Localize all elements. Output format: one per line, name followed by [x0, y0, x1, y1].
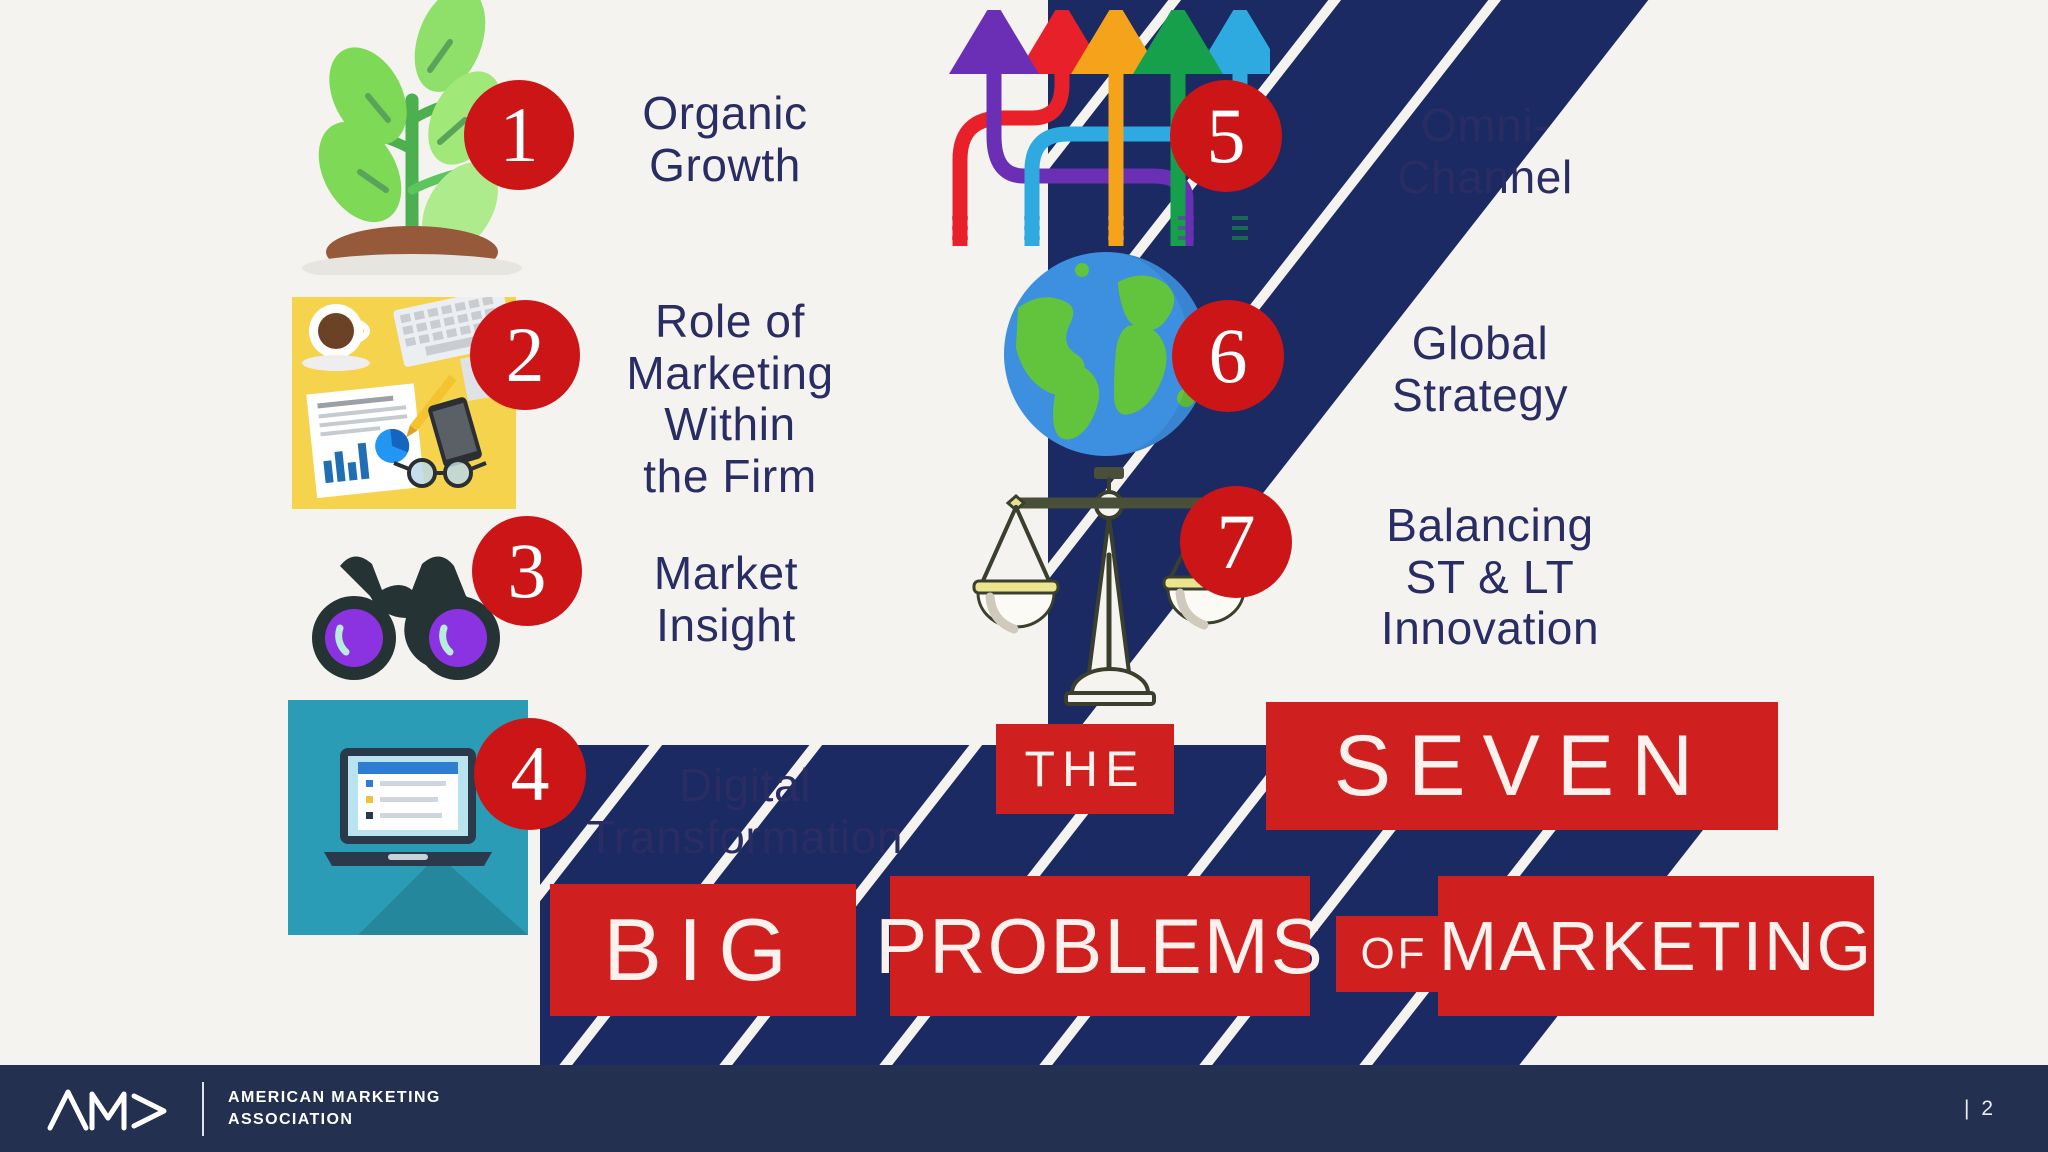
title-word-of: OF: [1336, 916, 1452, 992]
badge-label: 6: [1209, 317, 1248, 395]
item-label-balancing-st-lt-innovation: Balancing ST & LT Innovation: [1310, 500, 1670, 655]
footer-bar: AMERICAN MARKETING ASSOCIATION | 2: [0, 1065, 2048, 1152]
item-label-market-insight: Market Insight: [596, 548, 856, 651]
logo-divider: [202, 1082, 204, 1136]
ama-logomark-icon: [46, 1084, 178, 1134]
page-separator: |: [1964, 1097, 1972, 1120]
title-word-marketing: MARKETING: [1438, 876, 1874, 1016]
badge-label: 3: [508, 532, 547, 610]
ama-line-1: AMERICAN MARKETING: [228, 1087, 441, 1109]
page-number: | 2: [1964, 1097, 1996, 1121]
badge-number-3: 3: [472, 516, 582, 626]
title-word-problems: PROBLEMS: [890, 876, 1310, 1016]
badge-number-4: 4: [474, 718, 586, 830]
ama-logo: AMERICAN MARKETING ASSOCIATION: [46, 1082, 441, 1136]
badge-label: 7: [1217, 503, 1256, 581]
badge-label: 2: [506, 316, 545, 394]
ama-wordmark: AMERICAN MARKETING ASSOCIATION: [228, 1087, 441, 1130]
slide-canvas: 1 Organic Growth: [0, 0, 2048, 1152]
badge-number-2: 2: [470, 300, 580, 410]
title-word-seven: SEVEN: [1266, 702, 1778, 830]
title-word-the: THE: [996, 724, 1174, 814]
ama-line-2: ASSOCIATION: [228, 1109, 441, 1131]
badge-number-1: 1: [464, 80, 574, 190]
item-label-organic-growth: Organic Growth: [600, 88, 850, 191]
badge-number-7: 7: [1180, 486, 1292, 598]
badge-label: 4: [511, 735, 550, 813]
badge-number-5: 5: [1170, 80, 1282, 192]
badge-label: 1: [500, 96, 539, 174]
badge-label: 5: [1207, 97, 1246, 175]
page-number-value: 2: [1981, 1097, 1996, 1120]
item-label-omni-channel: Omni- Channel: [1330, 100, 1640, 203]
item-label-global-strategy: Global Strategy: [1320, 318, 1640, 421]
badge-number-6: 6: [1172, 300, 1284, 412]
item-label-role-of-marketing: Role of Marketing Within the Firm: [590, 296, 870, 502]
item-label-digital-transformation: Digital Transformation: [570, 760, 920, 863]
title-word-big: BIG: [550, 884, 856, 1016]
